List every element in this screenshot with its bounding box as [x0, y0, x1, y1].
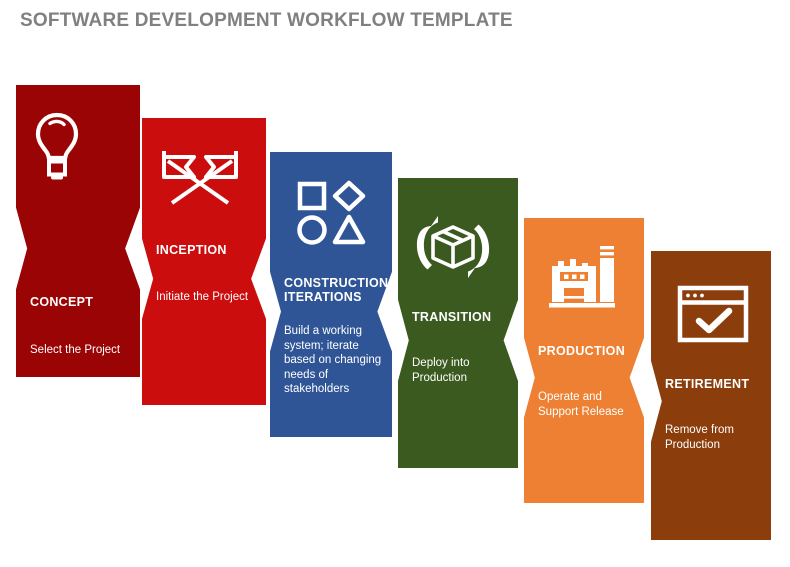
stage-title-construction-iterations: CONSTRUCTION ITERATIONS: [284, 276, 384, 304]
stage-title-concept: CONCEPT: [30, 295, 132, 309]
stage-description-concept: Select the Project: [30, 343, 130, 358]
shapes-icon: [296, 180, 366, 246]
stage-description-transition: Deploy into Production: [412, 356, 508, 385]
workflow-stage-transition[interactable]: TRANSITION Deploy into Production: [398, 178, 518, 468]
workflow-diagram: CONCEPT Select the Project INCEPTION: [0, 0, 790, 567]
crossed-flags-icon: [152, 143, 248, 213]
workflow-stage-inception[interactable]: INCEPTION Initiate the Project: [142, 118, 266, 405]
stage-description-production: Operate and Support Release: [538, 390, 634, 419]
lightbulb-icon: [30, 111, 84, 183]
factory-icon: [546, 244, 620, 310]
workflow-stage-production[interactable]: PRODUCTION Operate and Support Release: [524, 218, 644, 503]
stage-description-inception: Initiate the Project: [156, 290, 256, 305]
stage-title-inception: INCEPTION: [156, 243, 258, 257]
stage-description-retirement: Remove from Production: [665, 423, 761, 452]
workflow-stage-retirement[interactable]: RETIREMENT Remove from Production: [651, 251, 771, 540]
package-cycle-icon: [414, 210, 492, 284]
workflow-stage-concept[interactable]: CONCEPT Select the Project: [16, 85, 140, 377]
stage-title-retirement: RETIREMENT: [665, 377, 763, 391]
workflow-stage-construction-iterations[interactable]: CONSTRUCTION ITERATIONS Build a working …: [270, 152, 392, 437]
stage-title-transition: TRANSITION: [412, 310, 510, 324]
stage-description-construction-iterations: Build a working system; iterate based on…: [284, 324, 382, 397]
stage-title-production: PRODUCTION: [538, 344, 636, 358]
window-check-icon: [677, 285, 749, 345]
